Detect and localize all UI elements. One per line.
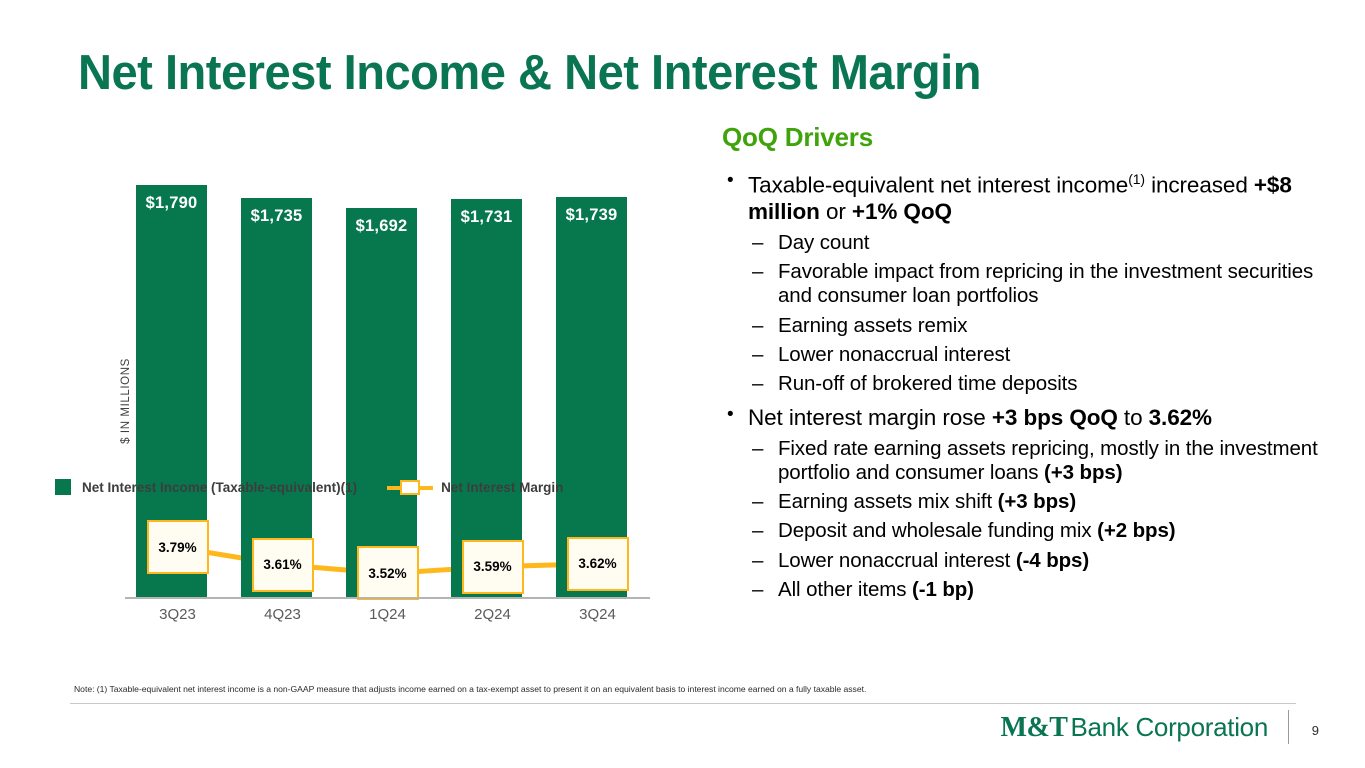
legend-swatch-bar-icon	[55, 479, 71, 495]
margin-value-3Q23: 3.79%	[147, 520, 209, 574]
bullet-primary: Net interest margin rose +3 bps QoQ to 3…	[722, 405, 1322, 432]
bullet-secondary: Run-off of brokered time deposits	[722, 372, 1322, 396]
brand-name-text: Bank Corporation	[1070, 712, 1268, 743]
bullet-secondary: Day count	[722, 231, 1322, 255]
bar-value-label: $1,790	[136, 194, 207, 213]
chart-bar-group: $1,739	[545, 160, 650, 597]
brand-divider	[1288, 710, 1289, 744]
chart-bar-group: $1,692	[335, 160, 440, 597]
x-axis-tick-3Q24: 3Q24	[545, 606, 650, 623]
qoq-drivers-panel: QoQ Drivers Taxable-equivalent net inter…	[722, 122, 1322, 607]
bullet-secondary: Earning assets mix shift (+3 bps)	[722, 490, 1322, 514]
bullet-list: Taxable-equivalent net interest income(1…	[722, 171, 1322, 602]
footnote: Note: (1) Taxable-equivalent net interes…	[74, 684, 866, 694]
bullet-secondary: Fixed rate earning assets repricing, mos…	[722, 437, 1322, 485]
x-axis-tick-1Q24: 1Q24	[335, 606, 440, 623]
x-axis-tick-4Q23: 4Q23	[230, 606, 335, 623]
chart-net-interest-income: $ IN MILLIONS $1,7903.79%$1,7353.61%$1,6…	[70, 160, 680, 660]
margin-value-3Q24: 3.62%	[567, 537, 629, 591]
bullet-secondary: Lower nonaccrual interest	[722, 343, 1322, 367]
bar-2Q24: $1,731	[451, 199, 522, 597]
chart-bar-group: $1,731	[440, 160, 545, 597]
legend-label-net-interest-income: Net Interest Income (Taxable-equivalent)…	[82, 480, 357, 495]
qoq-drivers-heading: QoQ Drivers	[722, 122, 1322, 153]
margin-value-2Q24: 3.59%	[462, 540, 524, 594]
chart-bar-group: $1,735	[230, 160, 335, 597]
bar-value-label: $1,739	[556, 206, 627, 225]
bullet-secondary: All other items (-1 bp)	[722, 578, 1322, 602]
margin-value-1Q24: 3.52%	[357, 546, 419, 600]
bullet-secondary: Lower nonaccrual interest (-4 bps)	[722, 549, 1322, 573]
legend-marker-line-icon	[387, 478, 433, 496]
chart-plot-area: $1,7903.79%$1,7353.61%$1,6923.52%$1,7313…	[125, 160, 650, 597]
bullet-secondary: Deposit and wholesale funding mix (+2 bp…	[722, 519, 1322, 543]
bar-1Q24: $1,692	[346, 208, 417, 597]
bullet-primary: Taxable-equivalent net interest income(1…	[722, 171, 1322, 226]
x-axis-tick-3Q23: 3Q23	[125, 606, 230, 623]
bar-value-label: $1,692	[346, 217, 417, 236]
chart-legend: Net Interest Income (Taxable-equivalent)…	[55, 478, 625, 496]
brand-mt-text: M&T	[1001, 712, 1068, 744]
page-number: 9	[1312, 723, 1319, 738]
margin-value-4Q23: 3.61%	[252, 538, 314, 592]
bar-value-label: $1,731	[451, 208, 522, 227]
footer-divider	[70, 703, 1296, 704]
legend-label-net-interest-margin: Net Interest Margin	[441, 480, 563, 495]
bar-value-label: $1,735	[241, 207, 312, 226]
x-axis-tick-2Q24: 2Q24	[440, 606, 545, 623]
brand-logo: M&T Bank Corporation	[1001, 712, 1268, 744]
bullet-secondary: Favorable impact from repricing in the i…	[722, 260, 1322, 308]
x-axis-line	[125, 597, 650, 599]
bullet-secondary: Earning assets remix	[722, 314, 1322, 338]
page-title: Net Interest Income & Net Interest Margi…	[78, 45, 981, 101]
